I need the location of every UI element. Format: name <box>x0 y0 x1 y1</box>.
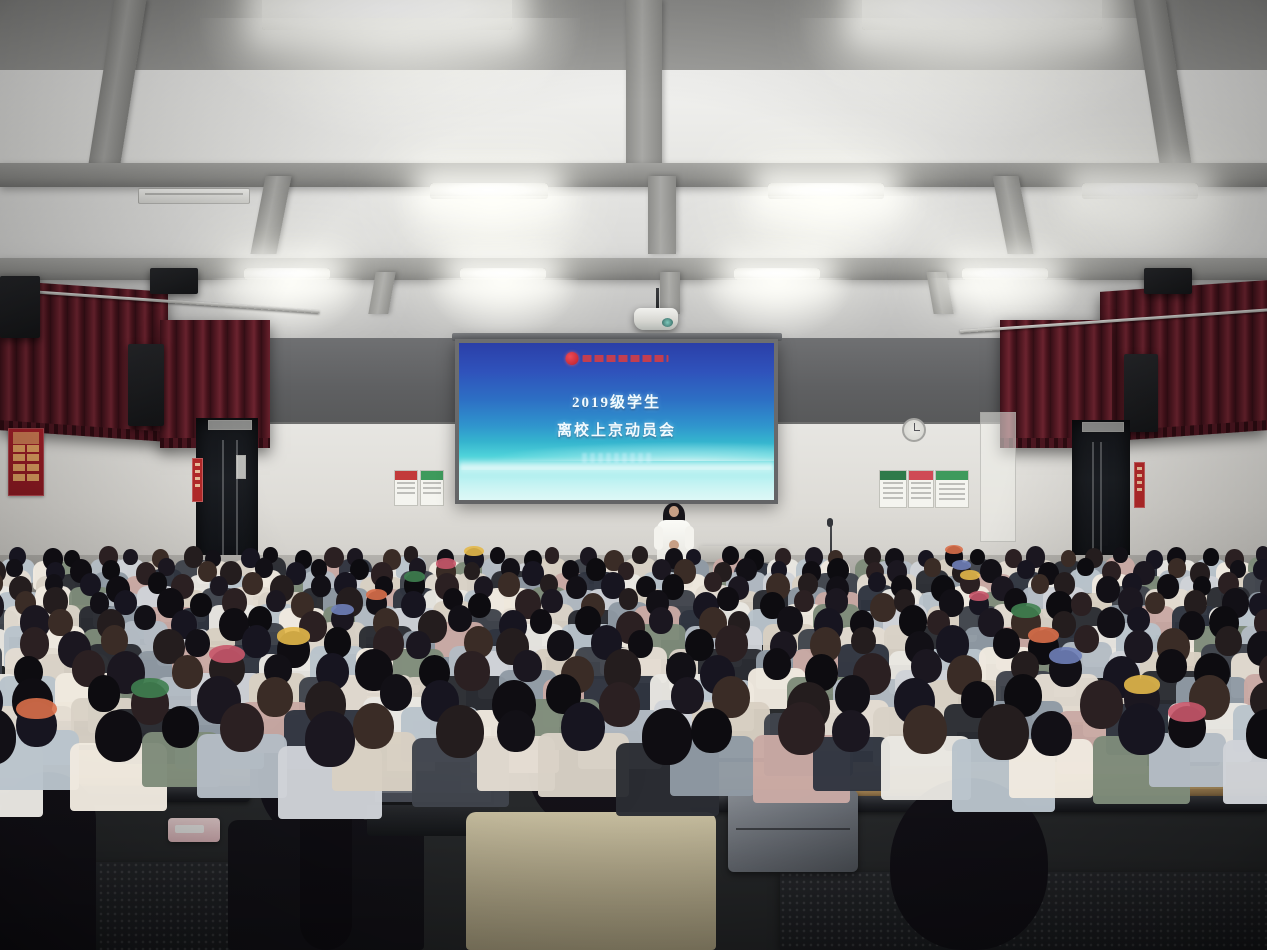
audience-member-head <box>324 547 344 569</box>
recessed-ceiling-light <box>862 0 1102 30</box>
audience-member-accent <box>131 678 169 698</box>
notice-board-small <box>394 470 418 506</box>
audience-member-head <box>172 655 203 689</box>
audience-member-head <box>717 587 738 611</box>
audience-member-head <box>1113 547 1128 563</box>
recessed-ceiling-light <box>962 268 1048 280</box>
recessed-ceiling-light <box>262 0 512 30</box>
audience-member-head <box>134 605 156 630</box>
audience-member-head <box>190 593 211 617</box>
audience-member-head <box>978 704 1028 761</box>
audience-member-head <box>448 605 472 632</box>
audience-member-head <box>311 575 331 597</box>
recessed-ceiling-light <box>244 268 330 280</box>
audience-member-head <box>513 650 541 682</box>
audience-member-accent <box>960 570 980 580</box>
audience-member-head <box>1061 550 1077 568</box>
wall-access-panel <box>980 412 1016 542</box>
audience-member-head <box>266 590 286 612</box>
recessed-ceiling-light <box>1082 183 1198 199</box>
audience-member-accent <box>436 558 456 569</box>
audience-member-head <box>566 576 587 600</box>
audience-member-accent <box>969 591 989 601</box>
slide-logo <box>565 352 668 365</box>
notice-lines <box>936 480 968 505</box>
audience-member-head <box>406 631 431 659</box>
presenter-arm-right <box>685 526 694 550</box>
audience-member-head <box>619 588 639 610</box>
ceiling-speaker-left <box>150 268 198 294</box>
audience-member-head <box>1071 592 1092 616</box>
presenter-face <box>669 506 679 517</box>
recessed-ceiling-light <box>430 183 548 199</box>
poster-cell <box>13 464 25 471</box>
audience-member-head <box>242 572 263 596</box>
ceiling-projector <box>634 308 678 330</box>
poster-cell <box>13 445 25 452</box>
recessed-ceiling-light <box>460 268 546 280</box>
audience-member-head <box>530 609 552 634</box>
notice-header <box>880 471 906 480</box>
audience-member-head <box>632 546 648 564</box>
audience-member-head <box>778 702 825 755</box>
audience-member-accent <box>1011 603 1041 619</box>
door-edge-line <box>222 440 224 560</box>
vertical-red-sign-right <box>1134 462 1145 508</box>
notice-header <box>395 471 417 480</box>
audience-member-accent <box>1049 647 1082 664</box>
student-tan-shirt-body <box>466 812 716 950</box>
presenter-arm-left <box>654 526 663 550</box>
audience-member-head <box>924 558 940 576</box>
backpack-zipper <box>736 828 850 830</box>
door-edge-line <box>1092 442 1094 560</box>
door-header-plate <box>208 420 252 430</box>
wall-speaker-left <box>0 276 40 338</box>
projector-lens <box>662 318 673 327</box>
audience-member-head <box>95 710 142 763</box>
audience-member-head <box>832 710 870 752</box>
audience-member-head <box>242 625 271 658</box>
slide-shore <box>459 470 774 500</box>
projector-mount-pole <box>656 288 659 310</box>
audience-member-head <box>599 682 640 728</box>
audience-member-head <box>870 593 896 623</box>
audience-member-accent <box>16 698 57 719</box>
university-emblem-icon <box>565 352 578 365</box>
ceiling-cross-beam <box>0 163 1267 187</box>
notice-header <box>936 471 968 480</box>
notice-header <box>909 471 933 480</box>
notice-board-red <box>908 470 934 508</box>
audience-member-head <box>162 706 200 748</box>
audience-member-head <box>1080 680 1124 729</box>
audience-member-accent <box>209 645 245 663</box>
poster-cell <box>27 454 39 461</box>
poster-cell <box>13 454 25 461</box>
audience-member-head <box>1145 592 1165 614</box>
wall-speaker-left-2 <box>128 344 164 426</box>
audience-member-head <box>185 629 210 657</box>
audience-member-head <box>305 711 355 768</box>
audience-member-accent <box>404 571 425 582</box>
audience-member-head <box>1031 711 1072 757</box>
audience-member-accent <box>945 545 963 555</box>
audience-member-accent <box>464 546 484 556</box>
poster-cell <box>27 464 39 471</box>
audience-member-head <box>1077 558 1093 576</box>
audience-member-head <box>123 549 138 565</box>
lecture-hall-photo: 2019级学生 离校上京动员会 <box>0 0 1267 950</box>
notice-board-green <box>879 470 907 508</box>
slide-date-line <box>582 453 652 463</box>
audience-member-head <box>454 651 490 691</box>
slide-title-line1: 2019级学生 <box>459 391 774 412</box>
recessed-ceiling-light <box>768 183 884 199</box>
notice-lines <box>395 480 417 499</box>
audience-member-head <box>547 630 574 660</box>
notice-header <box>421 471 443 480</box>
recessed-ceiling-light <box>734 268 820 280</box>
audience-member-head <box>1074 625 1099 653</box>
audience-member-head <box>220 703 264 752</box>
notice-board-small-2 <box>420 470 444 506</box>
microphone-head-icon <box>827 518 833 527</box>
audience-member-head <box>763 648 791 680</box>
pink-pencil-case[interactable] <box>168 818 220 842</box>
presentation-slide: 2019级学生 离校上京动员会 <box>459 343 774 500</box>
university-name-text-blurred <box>582 355 668 362</box>
red-notice-poster <box>8 428 44 496</box>
door-header-plate <box>1082 422 1124 432</box>
audience-member-head <box>561 702 605 751</box>
audience-member-accent <box>277 627 310 644</box>
ceiling-beam <box>626 0 662 182</box>
audience-member-head <box>1156 649 1187 683</box>
notice-lines <box>421 480 443 499</box>
audience-member-head <box>1031 574 1049 594</box>
audience-member-head <box>257 677 292 717</box>
audience-member-head <box>868 572 886 592</box>
audience-member-head <box>497 710 535 752</box>
notice-lines <box>909 480 933 504</box>
audience-member-head <box>903 705 947 754</box>
audience-member-head <box>545 547 560 563</box>
audience-member-head <box>1096 576 1120 603</box>
poster-cell <box>13 474 25 481</box>
poster-text-grid <box>13 445 39 473</box>
audience-member-head <box>649 607 673 634</box>
slide-title-line2: 离校上京动员会 <box>459 419 774 440</box>
audience-member-head <box>6 559 22 577</box>
ceiling-beam <box>648 176 676 254</box>
audience-member-accent <box>1028 627 1059 643</box>
audience-member-head <box>1215 626 1242 656</box>
poster-cell <box>27 445 39 452</box>
audience-member-head <box>691 708 732 754</box>
projection-screen: 2019级学生 离校上京动员会 <box>455 339 778 504</box>
audience-member-head <box>380 674 413 711</box>
audience-member-head <box>88 675 121 712</box>
audience-member-head <box>20 627 49 660</box>
audience-member-accent <box>1124 675 1159 693</box>
audience-member-head <box>436 705 483 758</box>
door-light-panel <box>236 455 246 479</box>
vertical-red-sign-left <box>192 458 203 502</box>
audience-member-head <box>1118 703 1165 756</box>
poster-cell <box>27 474 39 481</box>
audience-member-head <box>353 703 394 749</box>
audience-member-head <box>704 572 722 592</box>
audience-member-head <box>851 627 876 655</box>
notice-lines <box>880 480 906 504</box>
air-vent <box>138 188 250 204</box>
audience-member-accent <box>331 604 353 616</box>
door-edge-line <box>1100 442 1102 560</box>
notice-board-green-2 <box>935 470 969 508</box>
ceiling-speaker-right <box>1144 268 1192 294</box>
wall-clock <box>902 418 926 442</box>
audience-member-accent <box>1168 702 1206 722</box>
audience-member-head <box>642 708 692 765</box>
audience-member-head <box>835 675 870 715</box>
audience-member-head <box>1097 607 1125 638</box>
audience-member-head <box>671 677 704 714</box>
audience-member-head <box>1127 607 1149 632</box>
side-doorway-left[interactable] <box>196 418 258 568</box>
poster-heading-block <box>13 432 39 444</box>
